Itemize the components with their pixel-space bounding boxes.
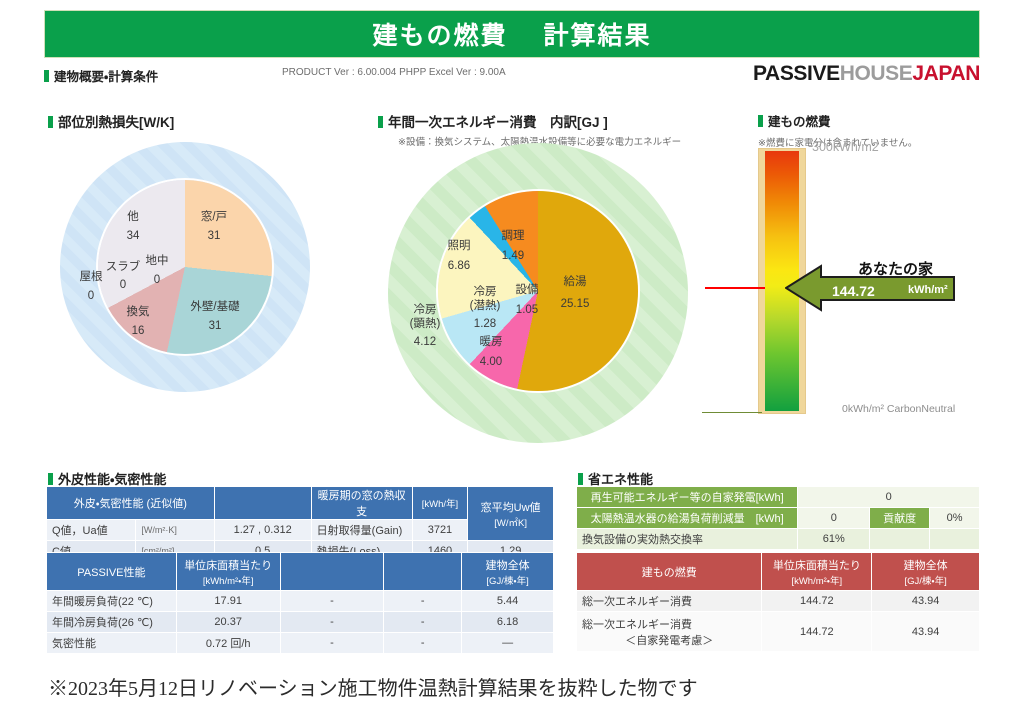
- section-heading-saving-label: 省エネ性能: [588, 472, 653, 487]
- passive-row-label-heating: 年間暖房負荷(22 ℃): [47, 591, 177, 612]
- section-heading-fuel: 建もの燃費: [758, 111, 831, 130]
- uw-header: 窓平均Uw値 [W/㎡K]: [468, 487, 554, 541]
- section-heading-fuel-label: 建もの燃費: [768, 115, 831, 129]
- pie-label-name: 換気: [127, 306, 150, 318]
- passive-row-c4-cooling: -: [384, 612, 462, 633]
- table-row: PASSIVE性能 単位床面積当たり [kWh/m²・年] 建物全体 [GJ/棟…: [47, 553, 554, 591]
- fuel-row-label-primary-pv: 総一次エネルギー消費 ＜自家発電考慮＞: [577, 612, 762, 652]
- window-header-unit: [kWh/年]: [412, 487, 468, 520]
- footer-note: ※2023年5月12日リノベーション施工物件温熱計算結果を抜粋した物です: [48, 672, 698, 701]
- section-heading-energy-label: 年間一次エネルギー消費 内訳[GJ ]: [388, 115, 608, 130]
- pie-label-sub: (顕熱): [394, 317, 456, 331]
- fuel-header-name-label: 建もの燃費: [642, 567, 697, 579]
- table-row: 太陽熱温水器の給湯負荷削減量 [kWh] 0 貢献度 0%: [577, 508, 980, 529]
- gauge-indicator-line: [705, 287, 765, 289]
- green-bar-icon: [378, 116, 383, 128]
- passive-row-c4-airtight: -: [384, 633, 462, 654]
- table-row: 気密性能 0.72 回/h - - ―: [47, 633, 554, 654]
- table-row: 総一次エネルギー消費 144.72 43.94: [577, 591, 980, 612]
- fuel-row-per-area-primary: 144.72: [762, 591, 872, 612]
- pie-slice-label-equipment: 設備 1.05: [502, 283, 552, 318]
- passive-header-name: PASSIVE性能: [47, 553, 177, 591]
- pie-slice-label-wall-foundation: 外壁/基礎 31: [180, 300, 250, 334]
- fuel-row-label-primary-pv-main: 総一次エネルギー消費: [582, 616, 756, 632]
- window-row-value-gain: 3721: [412, 520, 468, 541]
- pie-label-value: 6.86: [432, 259, 486, 273]
- fuel-header-total: 建物全体 [GJ/棟・年]: [872, 553, 980, 591]
- pie-label-value: 4.12: [394, 335, 456, 349]
- section-heading-energy: 年間一次エネルギー消費 内訳[GJ ]: [378, 111, 608, 131]
- pie-label-value: 34: [114, 229, 152, 243]
- pie-label-name: スラブ: [106, 261, 141, 273]
- pie-slice-label-other: 他 34: [114, 210, 152, 244]
- section-heading-overview: 建物概要・計算条件: [44, 66, 158, 85]
- logo-part-house: HOUSE: [840, 62, 913, 85]
- section-heading-heat-loss-label: 部位別熱損失[W/K]: [58, 115, 174, 130]
- pie-label-name: 冷房: [474, 286, 497, 298]
- fuel-header-total-unit: [GJ/棟・年]: [877, 573, 974, 587]
- pie-label-value: 1.05: [502, 303, 552, 317]
- passive-performance-table: PASSIVE性能 単位床面積当たり [kWh/m²・年] 建物全体 [GJ/棟…: [46, 552, 554, 654]
- table-row: 換気設備の実効熱交換率 61%: [577, 529, 980, 550]
- envelope-header-left-value: [214, 487, 311, 520]
- gauge-max-label: 300kWh/m2: [812, 140, 879, 154]
- saving-row-label-solar-water: 太陽熱温水器の給湯負荷削減量 [kWh]: [577, 508, 798, 529]
- fuel-consumption-table: 建もの燃費 単位床面積当たり [kWh/m²・年] 建物全体 [GJ/棟・年] …: [576, 552, 980, 652]
- passive-row-per-area-airtight: 0.72 回/h: [176, 633, 280, 654]
- pie-slice-label-window: 窓/戸 31: [186, 210, 242, 244]
- pie-label-name: 冷房: [414, 304, 437, 316]
- passive-row-label-airtight: 気密性能: [47, 633, 177, 654]
- gauge-baseline: [702, 412, 762, 413]
- table-row: 再生可能エネルギー等の自家発電[kWh] 0: [577, 487, 980, 508]
- green-bar-icon: [48, 116, 53, 128]
- window-header-label: 暖房期の窓の熱収支: [318, 490, 406, 518]
- window-row-label-gain: 日射取得量(Gain): [311, 520, 412, 541]
- saving-row-value-pv: 0: [798, 487, 980, 508]
- pie-label-name: 暖房: [480, 336, 503, 348]
- fuel-header-name: 建もの燃費: [577, 553, 762, 591]
- passive-row-c4-heating: -: [384, 591, 462, 612]
- pie-label-name: 外壁/基礎: [190, 301, 239, 313]
- your-house-unit: kWh/m²: [908, 284, 948, 296]
- pie-label-name: 調理: [502, 230, 525, 242]
- pie-label-name: 地中: [146, 255, 169, 267]
- passive-header-blank-1: [280, 553, 384, 591]
- passive-header-blank-2: [384, 553, 462, 591]
- gauge-min-label: 0kWh/m² CarbonNeutral: [842, 403, 955, 415]
- passive-header-per-area: 単位床面積当たり [kWh/m²・年]: [176, 553, 280, 591]
- envelope-row-value-q: 1.27 , 0.312: [214, 520, 311, 541]
- uw-header-unit: [W/㎡K]: [473, 515, 548, 529]
- pie-label-name: 屋根: [80, 271, 103, 283]
- green-bar-icon: [578, 473, 583, 485]
- section-heading-envelope-label: 外皮性能・気密性能: [58, 472, 166, 487]
- passive-header-total: 建物全体 [GJ/棟・年]: [462, 553, 554, 591]
- pie-label-name: 照明: [448, 240, 471, 252]
- passive-header-total-unit: [GJ/棟・年]: [467, 573, 548, 587]
- saving-row-contribution-value: 0%: [930, 508, 980, 529]
- pie-label-value: 1.49: [492, 249, 534, 263]
- pie-label-name: 給湯: [564, 276, 587, 288]
- pie-slice-label-hot-water: 給湯 25.15: [548, 275, 602, 312]
- your-house-label: あなたの家: [858, 258, 933, 279]
- saving-row-contribution-label: 貢献度: [870, 508, 930, 529]
- passive-row-per-area-cooling: 20.37: [176, 612, 280, 633]
- fuel-header-per-area-unit: [kWh/m²・年]: [767, 573, 866, 587]
- saving-row-blank-2: [930, 529, 980, 550]
- pie-slice-label-heating: 暖房 4.00: [466, 335, 516, 370]
- saving-row-value-hrv: 61%: [798, 529, 870, 550]
- passive-row-c3-cooling: -: [280, 612, 384, 633]
- logo-part-passive: PASSIVE: [753, 62, 840, 85]
- passive-header-per-area-label: 単位床面積当たり: [182, 557, 275, 573]
- pie-label-name: 設備: [516, 284, 539, 296]
- pie-label-value: 25.15: [548, 297, 602, 311]
- saving-row-value-solar-water: 0: [798, 508, 870, 529]
- table-row: 建もの燃費 単位床面積当たり [kWh/m²・年] 建物全体 [GJ/棟・年]: [577, 553, 980, 591]
- passive-row-total-airtight: ―: [462, 633, 554, 654]
- green-bar-icon: [44, 70, 49, 82]
- pie-label-value: 1.28: [454, 317, 516, 331]
- report-page: 建もの燃費 計算結果 建物概要・計算条件 PRODUCT Ver : 6.00.…: [0, 0, 1024, 718]
- fuel-header-per-area-label: 単位床面積当たり: [767, 557, 866, 573]
- your-house-value: 144.72: [832, 283, 875, 299]
- passive-house-japan-logo: PASSIVEHOUSEJAPAN: [753, 62, 980, 86]
- passive-header-total-label: 建物全体: [467, 557, 548, 573]
- envelope-row-unit-q: [W/m²·K]: [136, 520, 214, 541]
- fuel-header-per-area: 単位床面積当たり [kWh/m²・年]: [762, 553, 872, 591]
- fuel-row-total-primary-pv: 43.94: [872, 612, 980, 652]
- uw-header-label: 窓平均Uw値: [473, 499, 548, 515]
- pie-label-value: 31: [180, 319, 250, 333]
- pie-slice-label-underground: 地中 0: [138, 254, 176, 288]
- passive-row-per-area-heating: 17.91: [176, 591, 280, 612]
- logo-part-japan: JAPAN: [912, 62, 980, 85]
- passive-row-label-cooling: 年間冷房負荷(26 ℃): [47, 612, 177, 633]
- window-header: 暖房期の窓の熱収支: [311, 487, 412, 520]
- fuel-row-label-primary-pv-sub: ＜自家発電考慮＞: [582, 632, 756, 648]
- pie-label-value: 4.00: [466, 355, 516, 369]
- passive-row-c3-heating: -: [280, 591, 384, 612]
- fuel-header-total-label: 建物全体: [877, 557, 974, 573]
- passive-row-c3-airtight: -: [280, 633, 384, 654]
- pie-slice-label-cooking: 調理 1.49: [492, 229, 534, 264]
- pie-slice-label-lighting: 照明 6.86: [432, 239, 486, 274]
- version-text: PRODUCT Ver : 6.00.004 PHPP Excel Ver : …: [282, 67, 506, 78]
- passive-row-total-heating: 5.44: [462, 591, 554, 612]
- fuel-row-total-primary: 43.94: [872, 591, 980, 612]
- fuel-row-per-area-primary-pv: 144.72: [762, 612, 872, 652]
- window-header-unit-label: [kWh/年]: [422, 499, 458, 510]
- table-row: 外皮・気密性能 (近似値) 暖房期の窓の熱収支 [kWh/年] 窓平均Uw値 […: [47, 487, 554, 520]
- green-bar-icon: [758, 115, 763, 127]
- heat-loss-pie-chart: 窓/戸 31 外壁/基礎 31 換気 16 屋根 0 スラブ 0 地中 0 他 …: [60, 142, 310, 392]
- page-title-banner: 建もの燃費 計算結果: [44, 10, 980, 58]
- table-row: 年間冷房負荷(26 ℃) 20.37 - - 6.18: [47, 612, 554, 633]
- saving-row-label-pv: 再生可能エネルギー等の自家発電[kWh]: [577, 487, 798, 508]
- page-title: 建もの燃費 計算結果: [373, 16, 652, 52]
- primary-energy-pie-chart: 給湯 25.15 暖房 4.00 冷房 (顕熱) 4.12 冷房 (潜熱) 1.…: [388, 143, 688, 443]
- passive-row-total-cooling: 6.18: [462, 612, 554, 633]
- envelope-header-left: 外皮・気密性能 (近似値): [47, 487, 215, 520]
- saving-row-blank-1: [870, 529, 930, 550]
- pie-label-value: 31: [186, 229, 242, 243]
- pie-label-value: 0: [138, 273, 176, 287]
- green-bar-icon: [48, 473, 53, 485]
- envelope-row-label-q: Q値，Ua値: [47, 520, 136, 541]
- table-row: 総一次エネルギー消費 ＜自家発電考慮＞ 144.72 43.94: [577, 612, 980, 652]
- section-heading-heat-loss: 部位別熱損失[W/K]: [48, 111, 174, 131]
- fuel-row-label-primary: 総一次エネルギー消費: [577, 591, 762, 612]
- table-row: 年間暖房負荷(22 ℃) 17.91 - - 5.44: [47, 591, 554, 612]
- envelope-table: 外皮・気密性能 (近似値) 暖房期の窓の熱収支 [kWh/年] 窓平均Uw値 […: [46, 486, 554, 562]
- pie-slice-label-ventilation: 換気 16: [116, 305, 160, 339]
- energy-saving-table: 再生可能エネルギー等の自家発電[kWh] 0 太陽熱温水器の給湯負荷削減量 [k…: [576, 486, 980, 550]
- pie-label-name: 他: [127, 211, 139, 223]
- pie-label-value: 16: [116, 324, 160, 338]
- passive-header-name-label: PASSIVE性能: [77, 567, 145, 579]
- saving-row-label-hrv: 換気設備の実効熱交換率: [577, 529, 798, 550]
- pie-slice-label-cooling-sensible: 冷房 (顕熱) 4.12: [394, 303, 456, 349]
- passive-header-per-area-unit: [kWh/m²・年]: [182, 573, 275, 587]
- pie-label-name: 窓/戸: [201, 211, 227, 223]
- section-heading-overview-label: 建物概要・計算条件: [54, 70, 158, 84]
